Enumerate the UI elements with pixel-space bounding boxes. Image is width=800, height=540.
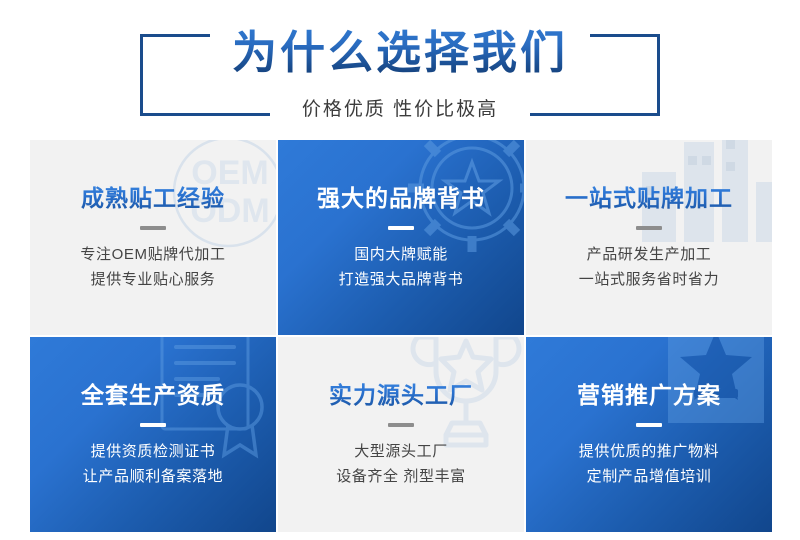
card-desc-line-1: 产品研发生产加工: [526, 242, 772, 267]
card-content: 强大的品牌背书 国内大牌赋能 打造强大品牌背书: [278, 183, 524, 292]
card-desc-line-2: 提供专业贴心服务: [30, 267, 276, 292]
card-desc-line-2: 设备齐全 剂型丰富: [278, 464, 524, 489]
card-title: 全套生产资质: [30, 380, 276, 410]
card-desc-line-2: 定制产品增值培训: [526, 464, 772, 489]
card-desc-line-1: 大型源头工厂: [278, 439, 524, 464]
card-desc-line-2: 打造强大品牌背书: [278, 267, 524, 292]
card-divider: [388, 423, 414, 427]
card-desc-line-2: 让产品顺利备案落地: [30, 464, 276, 489]
feature-card-brand-endorsement[interactable]: 强大的品牌背书 国内大牌赋能 打造强大品牌背书: [278, 140, 524, 335]
card-divider: [140, 226, 166, 230]
card-desc-line-2: 一站式服务省时省力: [526, 267, 772, 292]
card-content: 成熟贴工经验 专注OEM贴牌代加工 提供专业贴心服务: [30, 183, 276, 292]
card-desc-line-1: 国内大牌赋能: [278, 242, 524, 267]
card-desc-line-1: 专注OEM贴牌代加工: [30, 242, 276, 267]
card-title: 实力源头工厂: [278, 380, 524, 410]
card-content: 一站式贴牌加工 产品研发生产加工 一站式服务省时省力: [526, 183, 772, 292]
card-title: 营销推广方案: [526, 380, 772, 410]
page-subtitle: 价格优质 性价比极高: [0, 94, 800, 121]
card-desc-line-1: 提供优质的推广物料: [526, 439, 772, 464]
feature-card-one-stop-oem[interactable]: 一站式贴牌加工 产品研发生产加工 一站式服务省时省力: [526, 140, 772, 335]
card-title: 一站式贴牌加工: [526, 183, 772, 213]
feature-grid: OEM ODM 成熟贴工经验 专注OEM贴牌代加工 提供专业贴心服务: [30, 140, 772, 532]
card-content: 全套生产资质 提供资质检测证书 让产品顺利备案落地: [30, 380, 276, 489]
card-divider: [636, 226, 662, 230]
card-content: 实力源头工厂 大型源头工厂 设备齐全 剂型丰富: [278, 380, 524, 489]
card-desc-line-1: 提供资质检测证书: [30, 439, 276, 464]
feature-card-source-factory[interactable]: 实力源头工厂 大型源头工厂 设备齐全 剂型丰富: [278, 337, 524, 532]
feature-card-marketing-plan[interactable]: 营销推广方案 提供优质的推广物料 定制产品增值培训: [526, 337, 772, 532]
card-divider: [636, 423, 662, 427]
feature-card-production-qualifications[interactable]: 全套生产资质 提供资质检测证书 让产品顺利备案落地: [30, 337, 276, 532]
feature-card-mature-experience[interactable]: OEM ODM 成熟贴工经验 专注OEM贴牌代加工 提供专业贴心服务: [30, 140, 276, 335]
card-divider: [388, 226, 414, 230]
header-banner: 为什么选择我们 价格优质 性价比极高: [0, 0, 800, 140]
page-title: 为什么选择我们: [0, 26, 800, 80]
card-title: 强大的品牌背书: [278, 183, 524, 213]
card-content: 营销推广方案 提供优质的推广物料 定制产品增值培训: [526, 380, 772, 489]
card-divider: [140, 423, 166, 427]
card-title: 成熟贴工经验: [30, 183, 276, 213]
